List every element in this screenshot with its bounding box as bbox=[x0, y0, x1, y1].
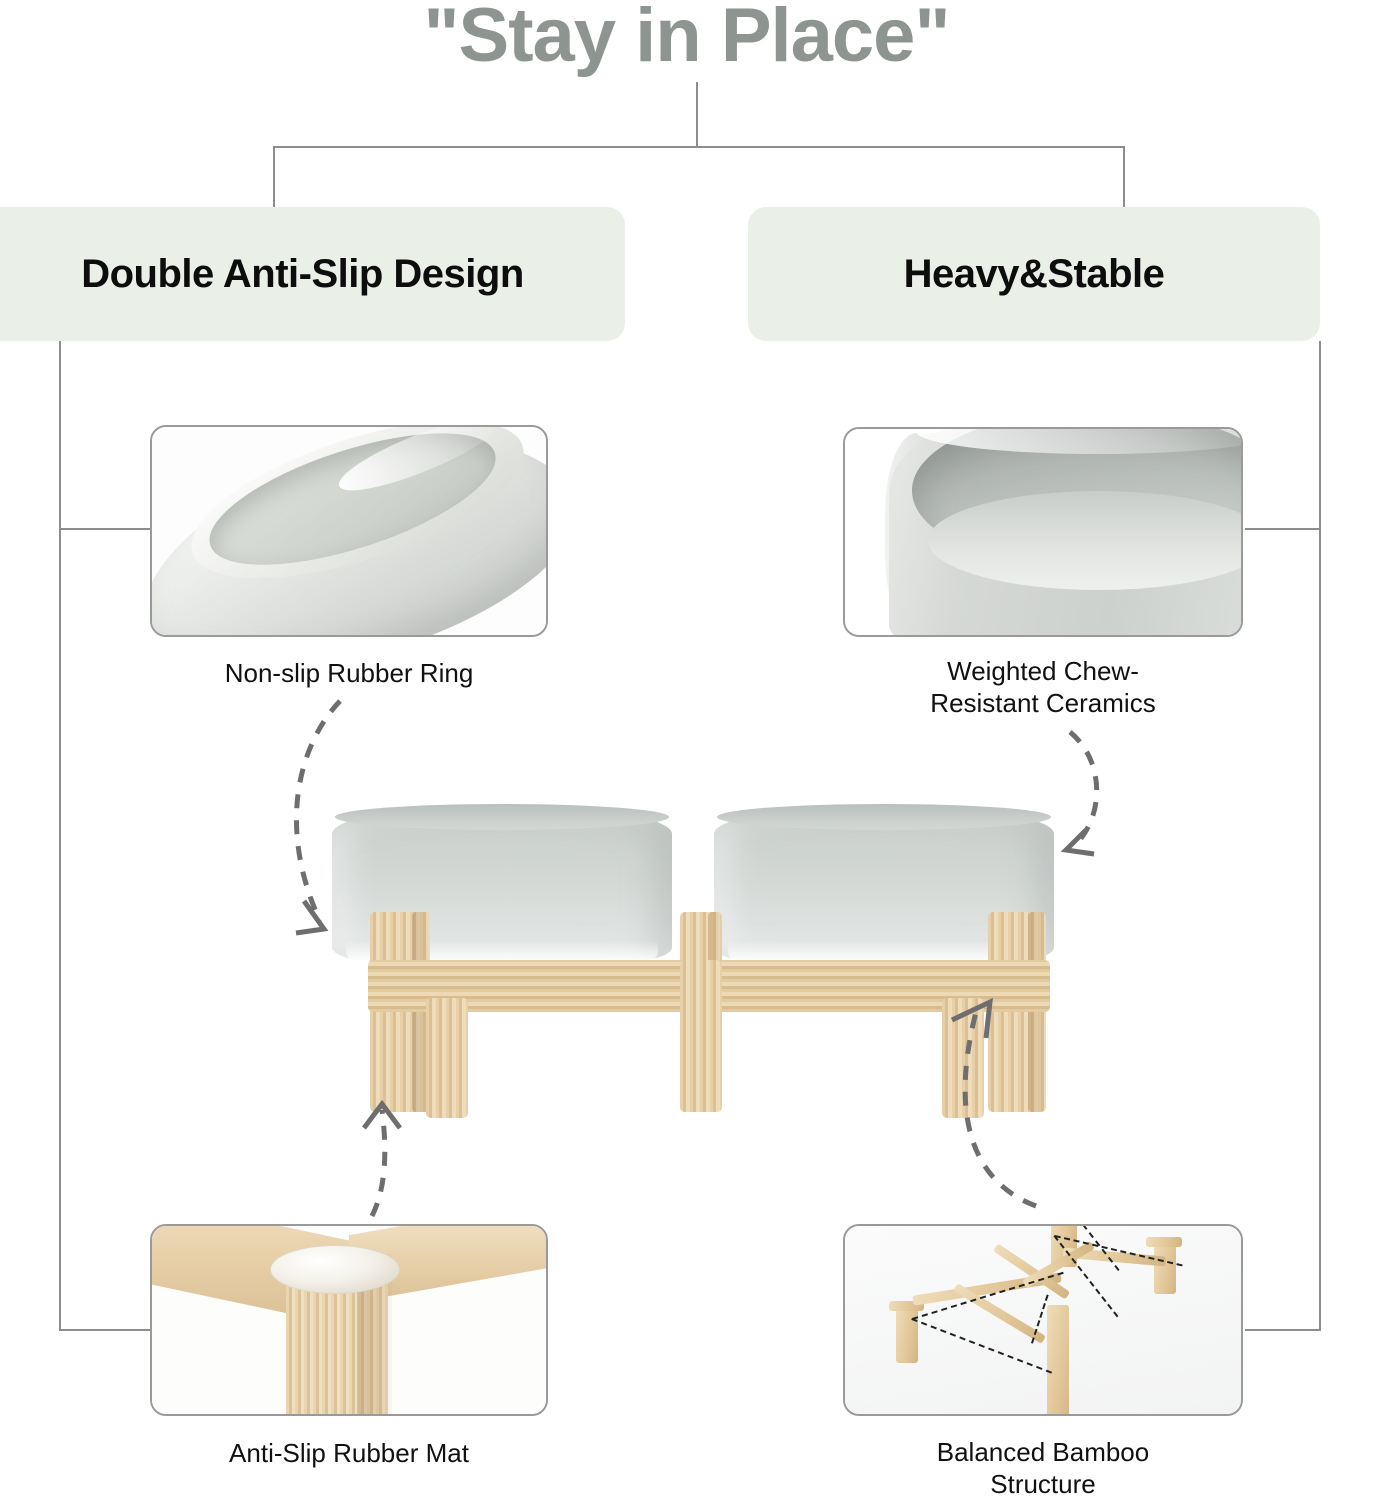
feature-caption-weighted-chew-resistant-ceramics: Weighted Chew- Resistant Ceramics bbox=[838, 656, 1248, 719]
feature-caption-anti-slip-rubber-mat: Anti-Slip Rubber Mat bbox=[150, 1438, 548, 1470]
category-box-heavy-and-stable[interactable]: Heavy&Stable bbox=[748, 207, 1320, 341]
callout-arrow-weighted-chew-resistant-ceramics bbox=[1020, 726, 1150, 861]
connector-branch-right-bottom bbox=[1245, 1329, 1321, 1331]
callout-arrow-anti-slip-rubber-mat bbox=[352, 1098, 472, 1223]
caption-line-1: Weighted Chew- bbox=[838, 656, 1248, 688]
photo-bamboo-stand-underside-triangulation bbox=[845, 1226, 1241, 1414]
photo-ceramic-bowl-interior bbox=[845, 429, 1241, 635]
caption-line-2: Structure bbox=[838, 1469, 1248, 1500]
connector-drop-left bbox=[273, 146, 275, 208]
page-title: "Stay in Place" bbox=[0, 0, 1373, 76]
category-label-double-anti-slip-design: Double Anti-Slip Design bbox=[81, 252, 524, 297]
connector-bar-top bbox=[273, 146, 1125, 148]
connector-drop-right bbox=[1123, 146, 1125, 208]
feature-photo-balanced-bamboo-structure[interactable] bbox=[843, 1224, 1243, 1416]
caption-line-2: Resistant Ceramics bbox=[838, 688, 1248, 720]
connector-branch-right-top bbox=[1245, 528, 1321, 530]
photo-bamboo-leg-with-rubber-pad bbox=[152, 1226, 546, 1414]
feature-photo-anti-slip-rubber-mat[interactable] bbox=[150, 1224, 548, 1416]
category-label-heavy-and-stable: Heavy&Stable bbox=[904, 252, 1165, 297]
connector-stem-top bbox=[696, 82, 698, 148]
connector-branch-left-top bbox=[59, 528, 152, 530]
connector-branch-left-bottom bbox=[59, 1329, 152, 1331]
connector-spine-right bbox=[1319, 341, 1321, 1331]
infographic-canvas: "Stay in Place" Double Anti-Slip Design … bbox=[0, 0, 1373, 1500]
callout-arrow-balanced-bamboo-structure bbox=[898, 990, 1058, 1220]
feature-photo-weighted-chew-resistant-ceramics[interactable] bbox=[843, 427, 1243, 637]
feature-caption-non-slip-rubber-ring: Non-slip Rubber Ring bbox=[150, 658, 548, 690]
connector-spine-left bbox=[59, 341, 61, 1331]
feature-caption-balanced-bamboo-structure: Balanced Bamboo Structure bbox=[838, 1437, 1248, 1500]
photo-tilted-ceramic-bowl-rim bbox=[152, 427, 546, 635]
caption-line-1: Balanced Bamboo bbox=[838, 1437, 1248, 1469]
stand-post-center-front bbox=[680, 960, 722, 1112]
callout-arrow-non-slip-rubber-ring bbox=[262, 695, 452, 955]
category-box-double-anti-slip-design[interactable]: Double Anti-Slip Design bbox=[0, 207, 625, 341]
feature-photo-non-slip-rubber-ring[interactable] bbox=[150, 425, 548, 637]
